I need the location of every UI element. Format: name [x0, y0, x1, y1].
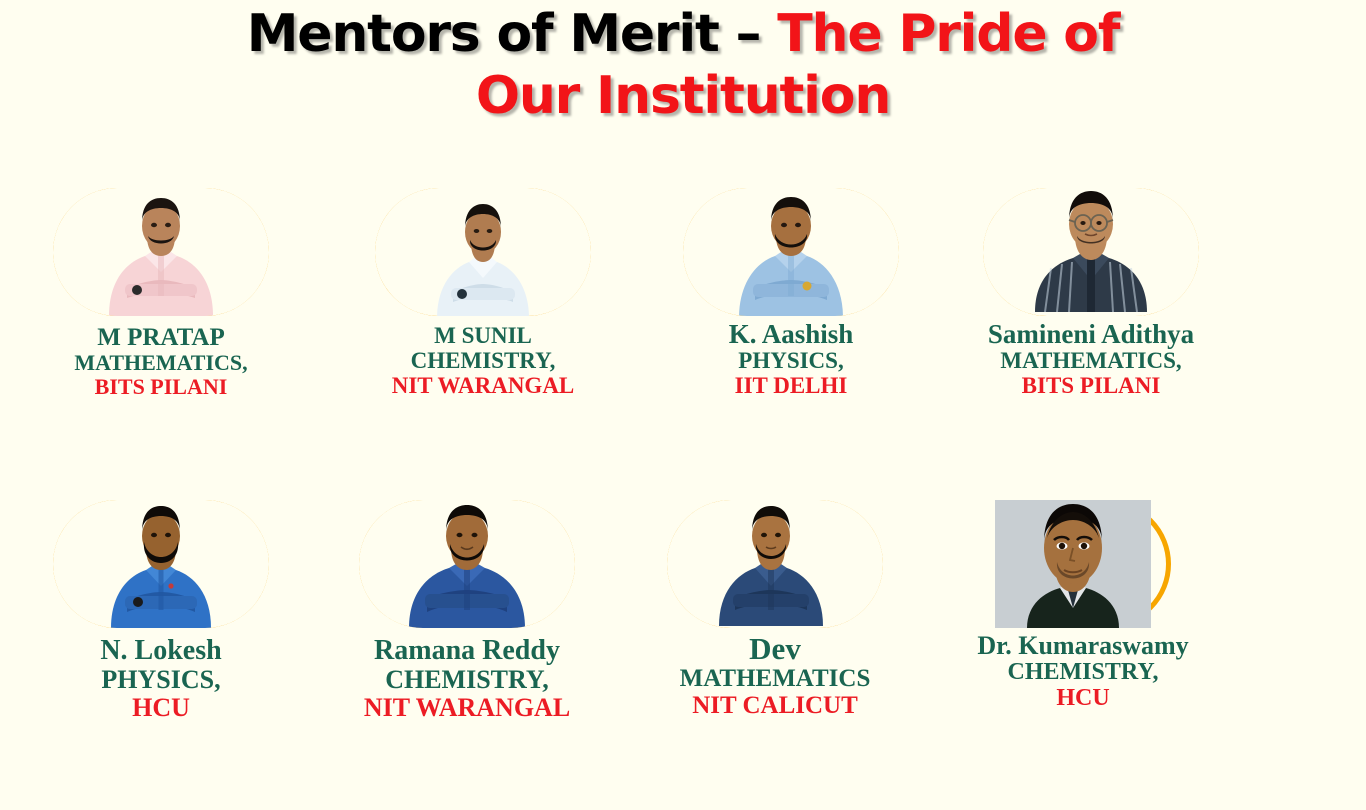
photo-frame: [683, 188, 899, 316]
mentor-institution: HCU: [100, 694, 221, 722]
portrait-n-lokesh: [53, 500, 269, 628]
mentor-name: M SUNIL: [392, 324, 575, 349]
mentor-row-1: M PRATAP MATHEMATICS, BITS PILANI: [0, 188, 1366, 498]
mentor-subject: MATHEMATICS: [680, 665, 871, 692]
mentor-subject: CHEMISTRY,: [977, 660, 1188, 686]
portrait-samineni-adithya: [983, 188, 1199, 316]
mentor-name: Dr. Kumaraswamy: [977, 632, 1188, 660]
mentor-card-dev[interactable]: Dev MATHEMATICS NIT CALICUT: [640, 500, 910, 719]
mentor-card-k-aashish[interactable]: K. Aashish PHYSICS, IIT DELHI: [656, 188, 926, 399]
mentor-name: N. Lokesh: [100, 636, 221, 666]
mentor-card-ramana-reddy[interactable]: Ramana Reddy CHEMISTRY, NIT WARANGAL: [332, 500, 602, 722]
mentor-row-2: N. Lokesh PHYSICS, HCU: [0, 500, 1366, 810]
photo-frame: [359, 500, 575, 628]
mentor-caption: M PRATAP MATHEMATICS, BITS PILANI: [74, 324, 247, 399]
page-title: Mentors of Merit – The Pride of Our Inst…: [0, 8, 1366, 122]
portrait-m-sunil: [375, 188, 591, 316]
mentor-card-n-lokesh[interactable]: N. Lokesh PHYSICS, HCU: [26, 500, 296, 722]
photo-frame: [53, 188, 269, 316]
title-text-red-2: Our Institution: [476, 66, 890, 126]
mentor-card-dr-kumaraswamy[interactable]: Dr. Kumaraswamy CHEMISTRY, HCU: [948, 500, 1218, 712]
mentor-caption: Dr. Kumaraswamy CHEMISTRY, HCU: [977, 632, 1188, 712]
mentor-institution: NIT CALICUT: [680, 692, 871, 719]
title-text-red-1: The Pride of: [777, 4, 1119, 64]
mentor-institution: HCU: [977, 686, 1188, 712]
mentor-caption: Samineni Adithya MATHEMATICS, BITS PILAN…: [988, 320, 1194, 399]
mentor-caption: M SUNIL CHEMISTRY, NIT WARANGAL: [392, 324, 575, 398]
mentor-grid: M PRATAP MATHEMATICS, BITS PILANI: [0, 188, 1366, 810]
mentor-caption: N. Lokesh PHYSICS, HCU: [100, 636, 221, 722]
mentor-subject: PHYSICS,: [100, 666, 221, 694]
mentor-institution: BITS PILANI: [988, 374, 1194, 399]
mentor-caption: K. Aashish PHYSICS, IIT DELHI: [729, 320, 854, 399]
portrait-dev: [667, 500, 883, 628]
portrait-dr-kumaraswamy: [995, 500, 1171, 628]
mentor-institution: BITS PILANI: [74, 375, 247, 399]
mentor-name: Dev: [680, 632, 871, 665]
mentor-caption: Dev MATHEMATICS NIT CALICUT: [680, 632, 871, 719]
mentor-subject: PHYSICS,: [729, 349, 854, 374]
mentor-name: Samineni Adithya: [988, 320, 1194, 349]
title-line-2: Our Institution: [0, 70, 1366, 122]
mentor-card-m-pratap[interactable]: M PRATAP MATHEMATICS, BITS PILANI: [26, 188, 296, 399]
photo-frame: [375, 188, 591, 316]
mentor-caption: Ramana Reddy CHEMISTRY, NIT WARANGAL: [364, 636, 570, 722]
title-line-1: Mentors of Merit – The Pride of: [0, 8, 1366, 60]
mentor-institution: IIT DELHI: [729, 374, 854, 399]
mentor-subject: CHEMISTRY,: [364, 666, 570, 694]
photo-frame: [53, 500, 269, 628]
mentor-subject: CHEMISTRY,: [392, 349, 575, 374]
mentor-name: M PRATAP: [74, 324, 247, 351]
portrait-m-pratap: [53, 188, 269, 316]
title-text-black: Mentors of Merit –: [247, 4, 778, 64]
mentor-subject: MATHEMATICS,: [988, 349, 1194, 374]
mentor-institution: NIT WARANGAL: [364, 694, 570, 722]
photo-frame: [983, 188, 1199, 316]
mentor-subject: MATHEMATICS,: [74, 351, 247, 375]
mentor-name: K. Aashish: [729, 320, 854, 349]
mentor-name: Ramana Reddy: [364, 636, 570, 666]
portrait-ramana-reddy: [359, 500, 575, 628]
photo-frame: [995, 500, 1171, 628]
mentor-institution: NIT WARANGAL: [392, 374, 575, 399]
photo-frame: [667, 500, 883, 628]
portrait-k-aashish: [683, 188, 899, 316]
mentor-card-m-sunil[interactable]: M SUNIL CHEMISTRY, NIT WARANGAL: [348, 188, 618, 398]
mentor-card-samineni-adithya[interactable]: Samineni Adithya MATHEMATICS, BITS PILAN…: [956, 188, 1226, 399]
